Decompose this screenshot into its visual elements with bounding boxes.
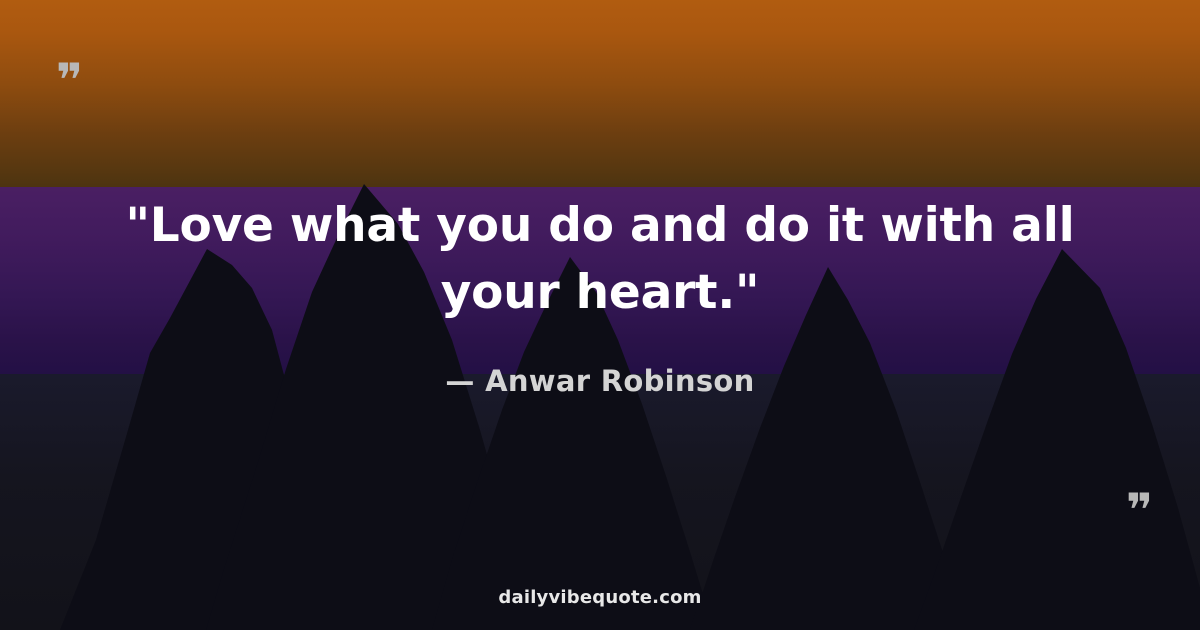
quote-open-icon: ❞ [56, 57, 85, 103]
quote-close-icon: ❞ [1126, 487, 1155, 533]
author-attribution: — Anwar Robinson [150, 364, 1050, 398]
quote-text: "Love what you do and do it with all you… [95, 193, 1105, 326]
quote-poster: ❞ ❞ "Love what you do and do it with all… [0, 0, 1200, 630]
website-footer: dailyvibequote.com [250, 587, 950, 608]
